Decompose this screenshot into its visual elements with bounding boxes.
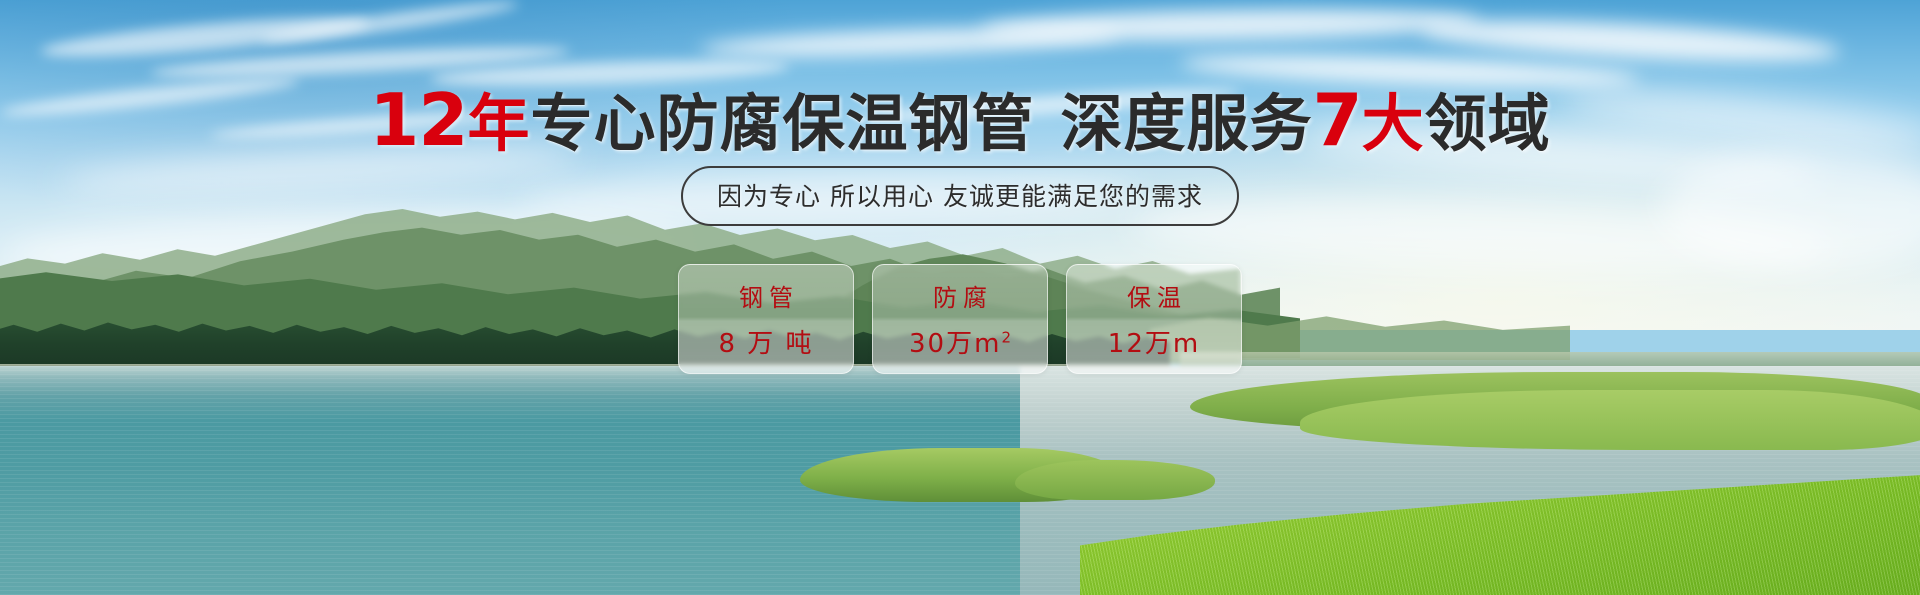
- stat-card-insulation[interactable]: 保温 12万m: [1066, 264, 1242, 374]
- stat-card-value: 30万m2: [909, 323, 1011, 360]
- hero-banner: 12年专心防腐保温钢管深度服务7大领域 因为专心 所以用心 友诚更能满足您的需求…: [0, 0, 1920, 595]
- stat-card-label: 防腐: [927, 278, 993, 313]
- headline-service-text: 深度服务: [1061, 87, 1313, 160]
- headline-fields-unit: 大: [1362, 87, 1425, 160]
- stat-card-steel-pipe[interactable]: 钢管 8 万 吨: [678, 264, 854, 374]
- headline-main-text: 专心防腐保温钢管: [531, 87, 1035, 160]
- stat-card-label: 钢管: [733, 278, 799, 313]
- stat-cards: 钢管 8 万 吨 防腐 30万m2 保温 12万m: [0, 264, 1920, 374]
- headline-years-unit: 年: [468, 87, 531, 160]
- stat-card-value-main: 30万m: [909, 329, 1001, 359]
- headline: 12年专心防腐保温钢管深度服务7大领域: [0, 84, 1920, 156]
- grass-island-secondary: [1015, 460, 1215, 500]
- stat-card-anticorrosion[interactable]: 防腐 30万m2: [872, 264, 1048, 374]
- subtitle-pill: 因为专心 所以用心 友诚更能满足您的需求: [681, 166, 1239, 226]
- stat-card-value: 8 万 吨: [718, 323, 813, 360]
- stat-card-value: 12万m: [1108, 323, 1200, 360]
- headline-fields-text: 领域: [1425, 87, 1551, 160]
- stat-card-value-superscript: 2: [1001, 328, 1011, 346]
- subtitle-container: 因为专心 所以用心 友诚更能满足您的需求: [0, 166, 1920, 226]
- headline-fields-number: 7: [1313, 78, 1362, 162]
- stat-card-label: 保温: [1121, 278, 1187, 313]
- marsh-mid: [1300, 390, 1920, 450]
- stat-card-value-main: 12万m: [1108, 329, 1200, 359]
- stat-card-value-main: 8 万 吨: [718, 329, 813, 359]
- headline-years-number: 12: [369, 78, 467, 162]
